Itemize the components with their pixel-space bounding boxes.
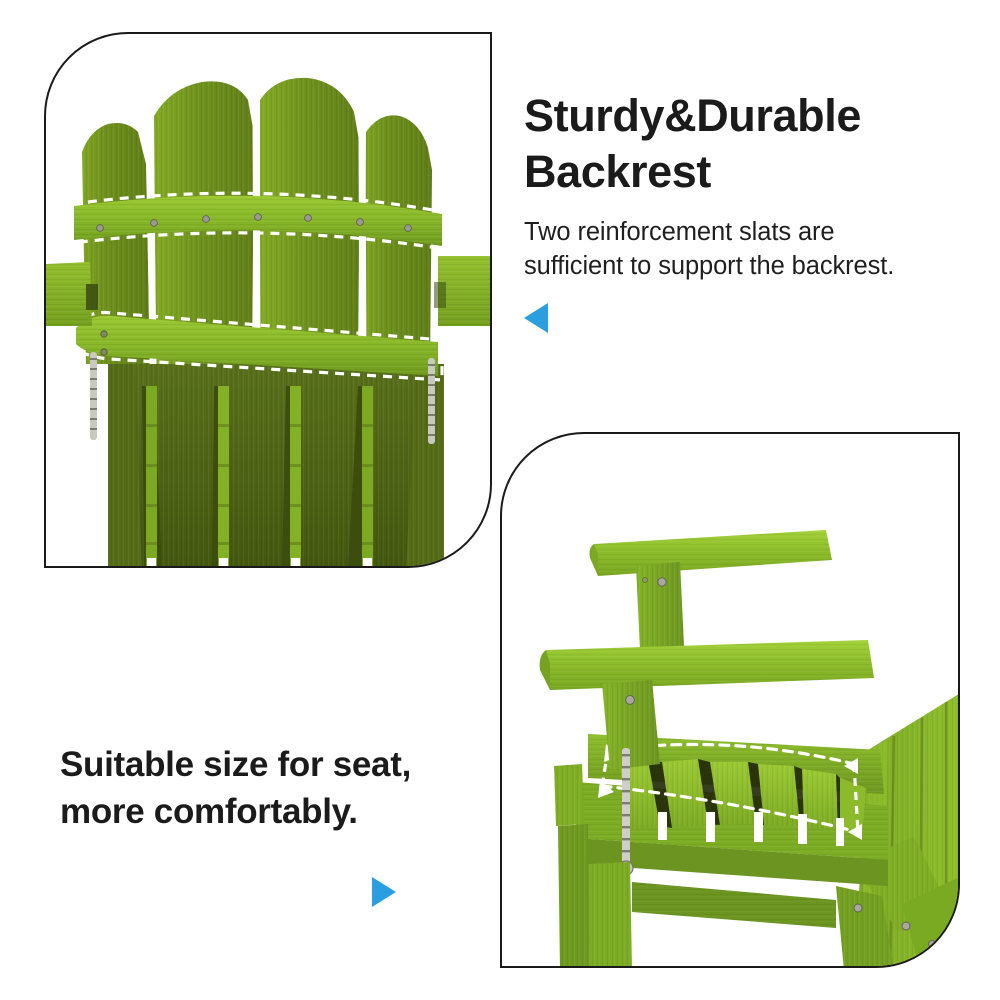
backrest-photo-panel (44, 32, 492, 568)
triangle-right-icon (372, 877, 396, 907)
backrest-subline-line2: sufficient to support the backrest. (524, 252, 894, 280)
backrest-subline-line1: Two reinforcement slats are (524, 218, 835, 246)
right-chain (428, 358, 435, 444)
backrest-text-block: Sturdy&Durable Backrest Two reinforcemen… (524, 88, 994, 333)
backrest-headline-line1: Sturdy&Durable (524, 90, 861, 141)
seat-headline-line2: more comfortably. (60, 792, 358, 831)
backrest-subline: Two reinforcement slats are sufficient t… (524, 216, 994, 284)
backrest-headline-line2: Backrest (524, 146, 711, 197)
backrest-chair-illustration (46, 34, 490, 566)
backrest-headline: Sturdy&Durable Backrest (524, 88, 994, 200)
triangle-left-icon (524, 303, 548, 333)
seat-text-block: Suitable size for seat, more comfortably… (60, 742, 510, 907)
seat-photo-panel (500, 432, 960, 968)
backrest-photo (46, 34, 490, 566)
seat-photo (502, 434, 958, 966)
seat-headline: Suitable size for seat, more comfortably… (60, 742, 510, 835)
infographic-canvas: Sturdy&Durable Backrest Two reinforcemen… (0, 0, 1000, 1000)
seat-chair-illustration (502, 434, 958, 966)
left-chain (90, 352, 97, 440)
seat-headline-line1: Suitable size for seat, (60, 745, 411, 784)
